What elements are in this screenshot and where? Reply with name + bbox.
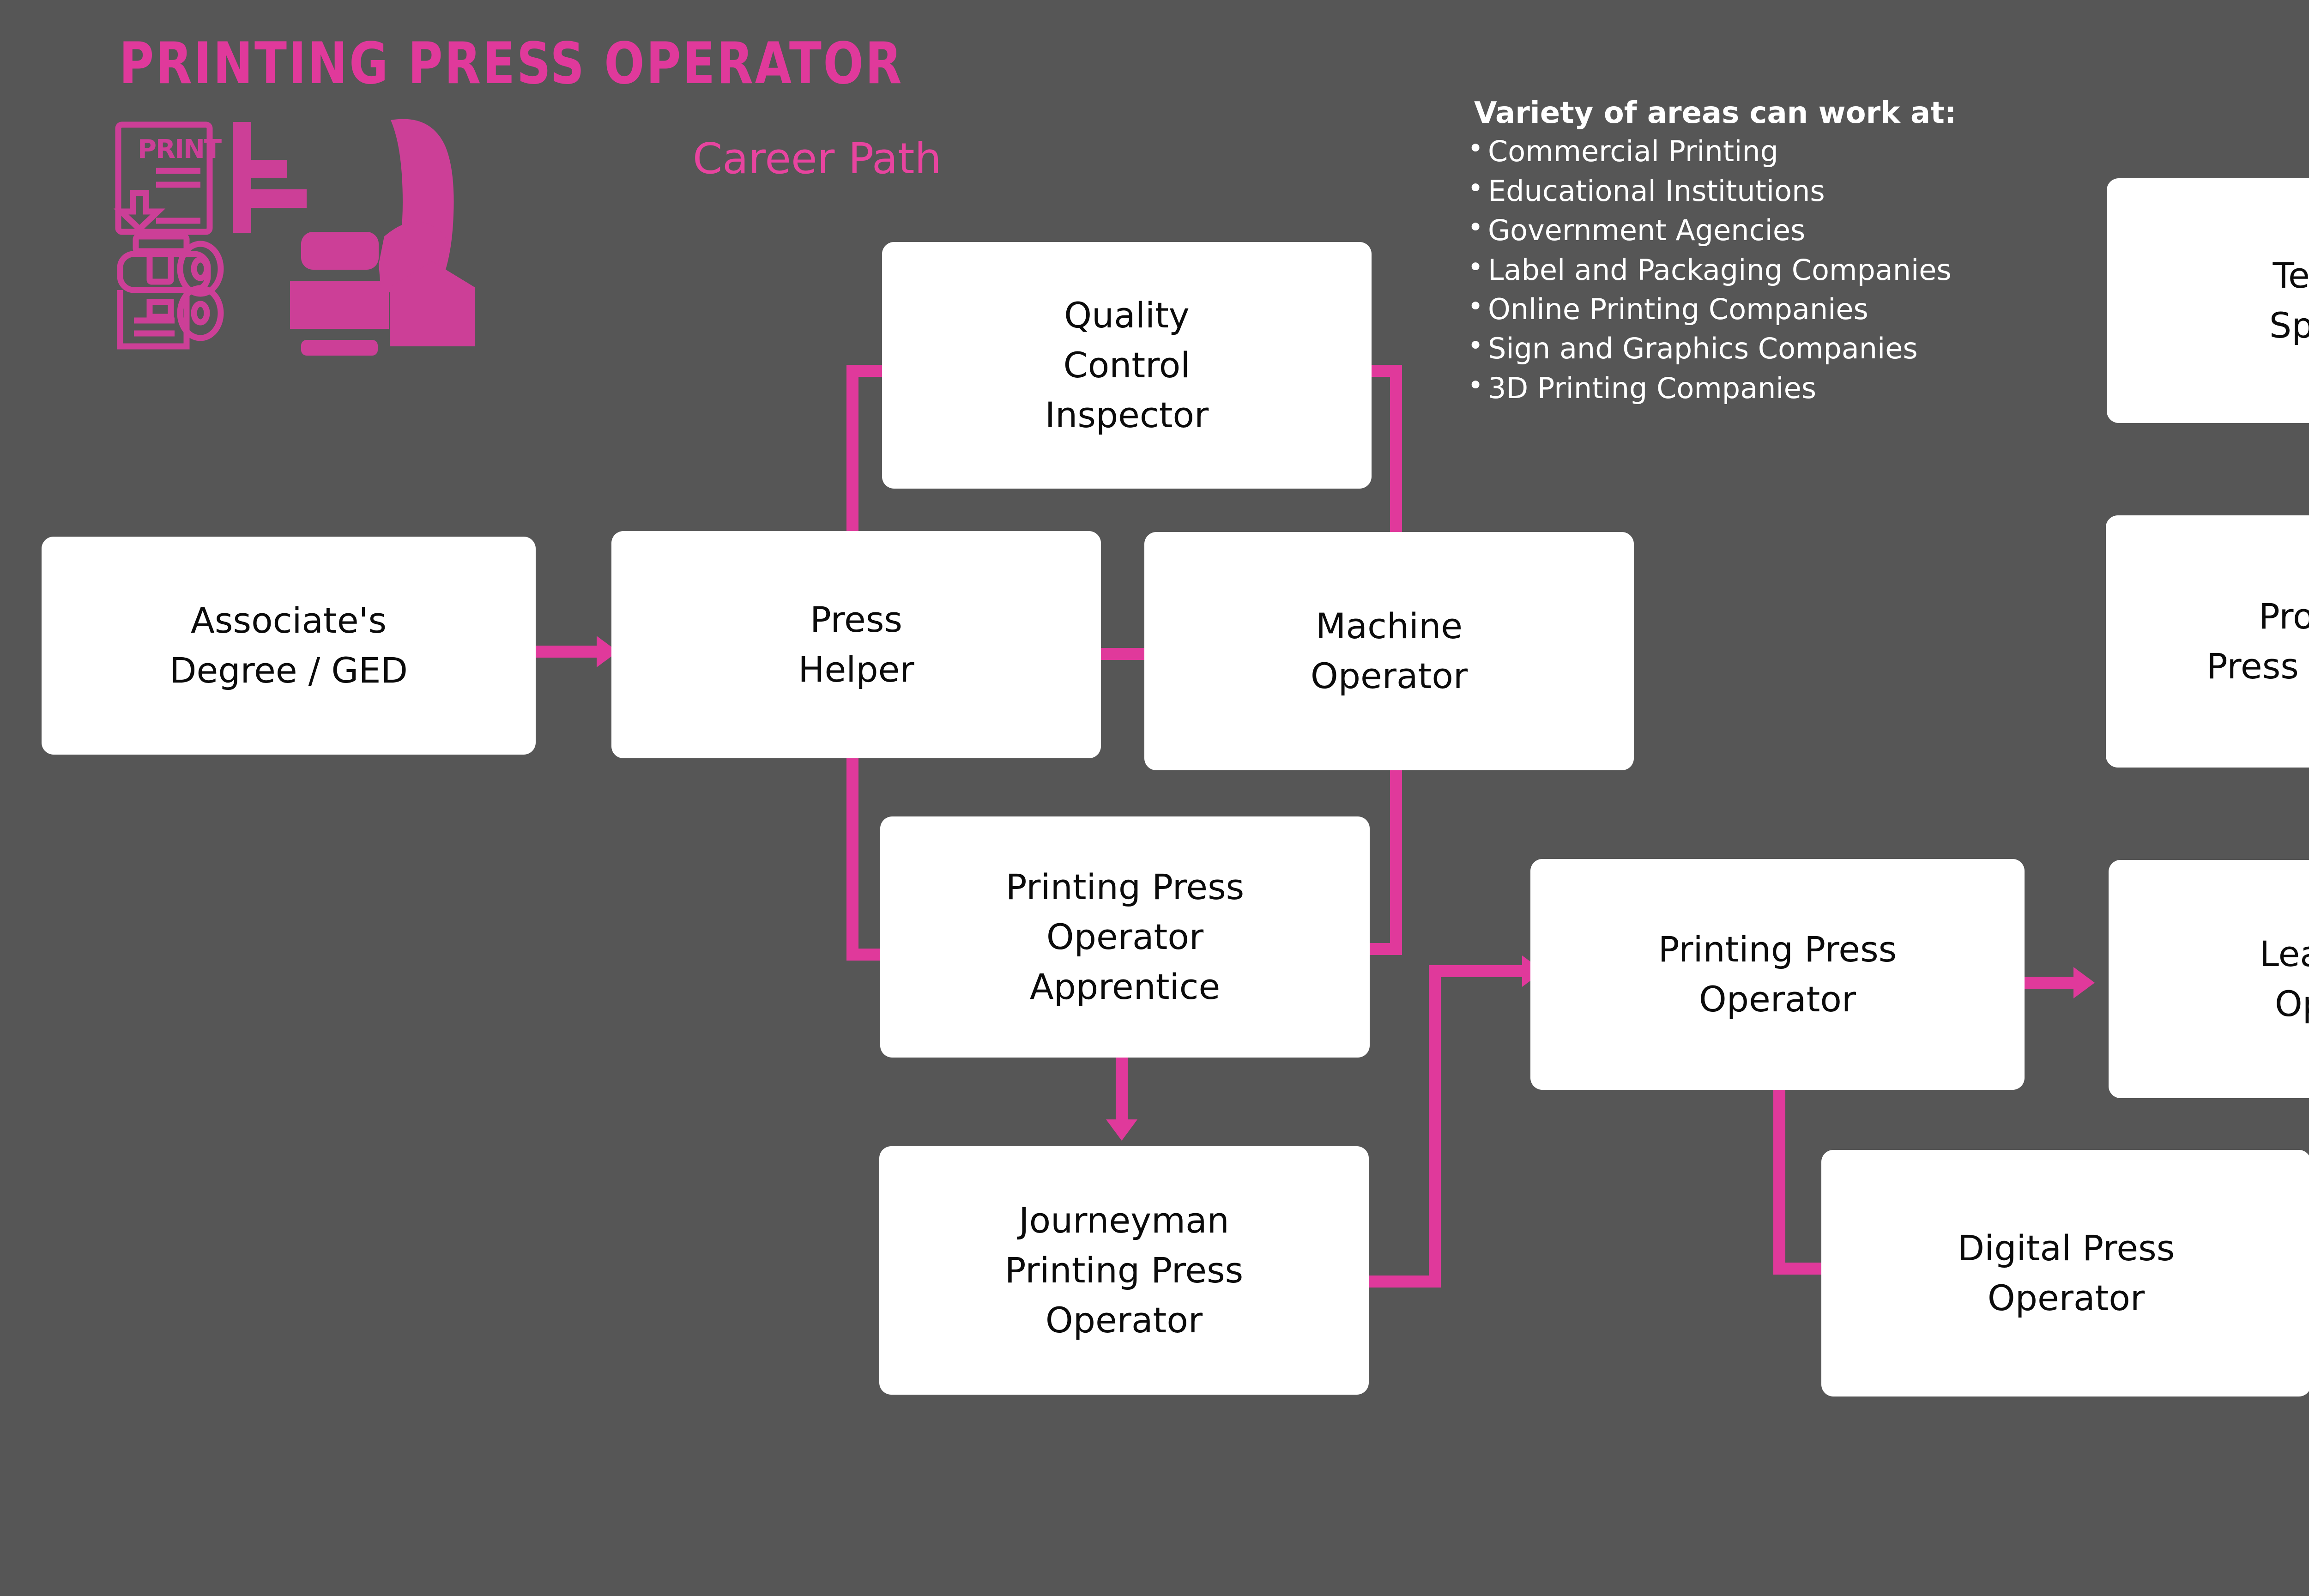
node-label: PressHelper bbox=[798, 595, 914, 695]
node-journeyman-printing-press-operator[interactable]: JourneymanPrinting PressOperator bbox=[879, 1146, 1369, 1395]
node-associates-degree-ged[interactable]: Associate'sDegree / GED bbox=[42, 537, 536, 755]
node-printing-press-operator-apprentice[interactable]: Printing PressOperatorApprentice bbox=[880, 816, 1370, 1058]
career-path-infographic: PRINTING PRESS OPERATOR Career Path PRIN… bbox=[0, 0, 2309, 1596]
node-digital-press-operator[interactable]: Digital PressOperator bbox=[1821, 1150, 2309, 1396]
edge-qc-to-machine-vertical bbox=[1390, 365, 1402, 538]
list-item: Commercial Printing bbox=[1464, 135, 2110, 167]
list-item: Label and Packaging Companies bbox=[1464, 254, 2110, 286]
list-item: Government Agencies bbox=[1464, 214, 2110, 246]
page-title: PRINTING PRESS OPERATOR bbox=[119, 30, 903, 97]
node-label: ProductionPress Supervisor bbox=[2206, 592, 2309, 691]
work-areas-heading: Variety of areas can work at: bbox=[1474, 98, 2110, 129]
node-label: Lead PressOperator bbox=[2260, 929, 2309, 1029]
node-label: QualityControlInspector bbox=[1045, 290, 1209, 440]
node-label: Associate'sDegree / GED bbox=[169, 596, 408, 695]
node-label: Printing PressOperatorApprentice bbox=[1006, 862, 1245, 1012]
node-quality-control-inspector[interactable]: QualityControlInspector bbox=[882, 242, 1372, 489]
svg-text:PRINT: PRINT bbox=[138, 134, 222, 164]
list-item: 3D Printing Companies bbox=[1464, 372, 2110, 404]
edge-associates-to-press-helper bbox=[536, 646, 601, 658]
node-printing-press-operator[interactable]: Printing PressOperator bbox=[1530, 859, 2025, 1090]
edge-printing-op-to-digital-op-vertical bbox=[1773, 1090, 1785, 1275]
node-press-helper[interactable]: PressHelper bbox=[611, 531, 1101, 758]
arrowhead-right bbox=[2073, 967, 2095, 998]
node-label: Digital PressOperator bbox=[1958, 1223, 2175, 1323]
node-label: MachineOperator bbox=[1311, 601, 1468, 701]
node-lead-press-operator[interactable]: Lead PressOperator bbox=[2109, 860, 2309, 1098]
edge-printing-op-to-digital-op-horizontal bbox=[1773, 1263, 1822, 1275]
node-production-press-supervisor[interactable]: ProductionPress Supervisor bbox=[2106, 515, 2309, 768]
arrowhead-down bbox=[1106, 1119, 1137, 1141]
printing-press-operator-illustration: PRINT bbox=[105, 115, 549, 356]
edge-machine-to-apprentice-vertical bbox=[1390, 770, 1402, 955]
edge-apprentice-to-journeyman bbox=[1116, 1058, 1128, 1127]
node-technical-specialist[interactable]: TechnicalSpecialist bbox=[2107, 178, 2309, 423]
edge-journeyman-to-printing-op-vertical bbox=[1429, 965, 1441, 1288]
node-machine-operator[interactable]: MachineOperator bbox=[1144, 532, 1634, 770]
node-label: JourneymanPrinting PressOperator bbox=[1005, 1196, 1244, 1345]
node-label: Printing PressOperator bbox=[1658, 925, 1897, 1024]
list-item: Educational Institutions bbox=[1464, 175, 2110, 207]
page-subtitle: Career Path bbox=[693, 134, 942, 183]
node-label: TechnicalSpecialist bbox=[2269, 251, 2309, 351]
list-item: Sign and Graphics Companies bbox=[1464, 332, 2110, 364]
work-areas-list: Commercial Printing Educational Institut… bbox=[1464, 135, 2110, 404]
list-item: Online Printing Companies bbox=[1464, 293, 2110, 325]
edge-journeyman-to-printing-op-h2 bbox=[1429, 965, 1535, 977]
work-areas-panel: Variety of areas can work at: Commercial… bbox=[1464, 98, 2110, 411]
